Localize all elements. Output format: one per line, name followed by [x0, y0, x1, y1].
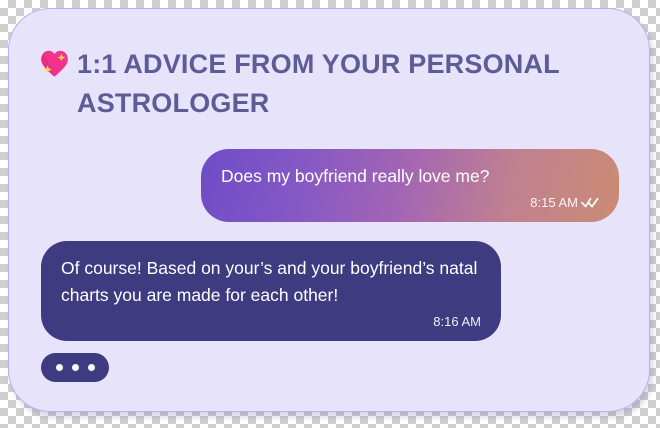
typing-dot [72, 364, 79, 371]
message-row-outgoing: Does my boyfriend really love me? 8:15 A… [201, 149, 619, 222]
message-meta: 8:16 AM [61, 313, 481, 331]
sparkling-heart-icon [39, 45, 69, 79]
page-title: 1:1 advice from your personal astrologer [77, 45, 582, 123]
typing-indicator-row [41, 353, 109, 382]
typing-indicator [41, 353, 109, 382]
message-row-incoming: Of course! Based on your’s and your boyf… [41, 241, 501, 341]
message-meta: 8:15 AM [221, 194, 599, 212]
message-text: Does my boyfriend really love me? [221, 163, 599, 190]
card-header: 1:1 advice from your personal astrologer [39, 45, 599, 123]
message-list: Does my boyfriend really love me? 8:15 A… [9, 141, 650, 401]
message-text: Of course! Based on your’s and your boyf… [61, 255, 481, 309]
message-timestamp: 8:15 AM [530, 194, 578, 212]
typing-dot [56, 364, 63, 371]
message-timestamp: 8:16 AM [433, 313, 481, 331]
message-bubble-outgoing[interactable]: Does my boyfriend really love me? 8:15 A… [201, 149, 619, 222]
chat-card: 1:1 advice from your personal astrologer… [8, 8, 650, 412]
double-check-icon [581, 197, 599, 209]
typing-dot [88, 364, 95, 371]
message-bubble-incoming[interactable]: Of course! Based on your’s and your boyf… [41, 241, 501, 341]
